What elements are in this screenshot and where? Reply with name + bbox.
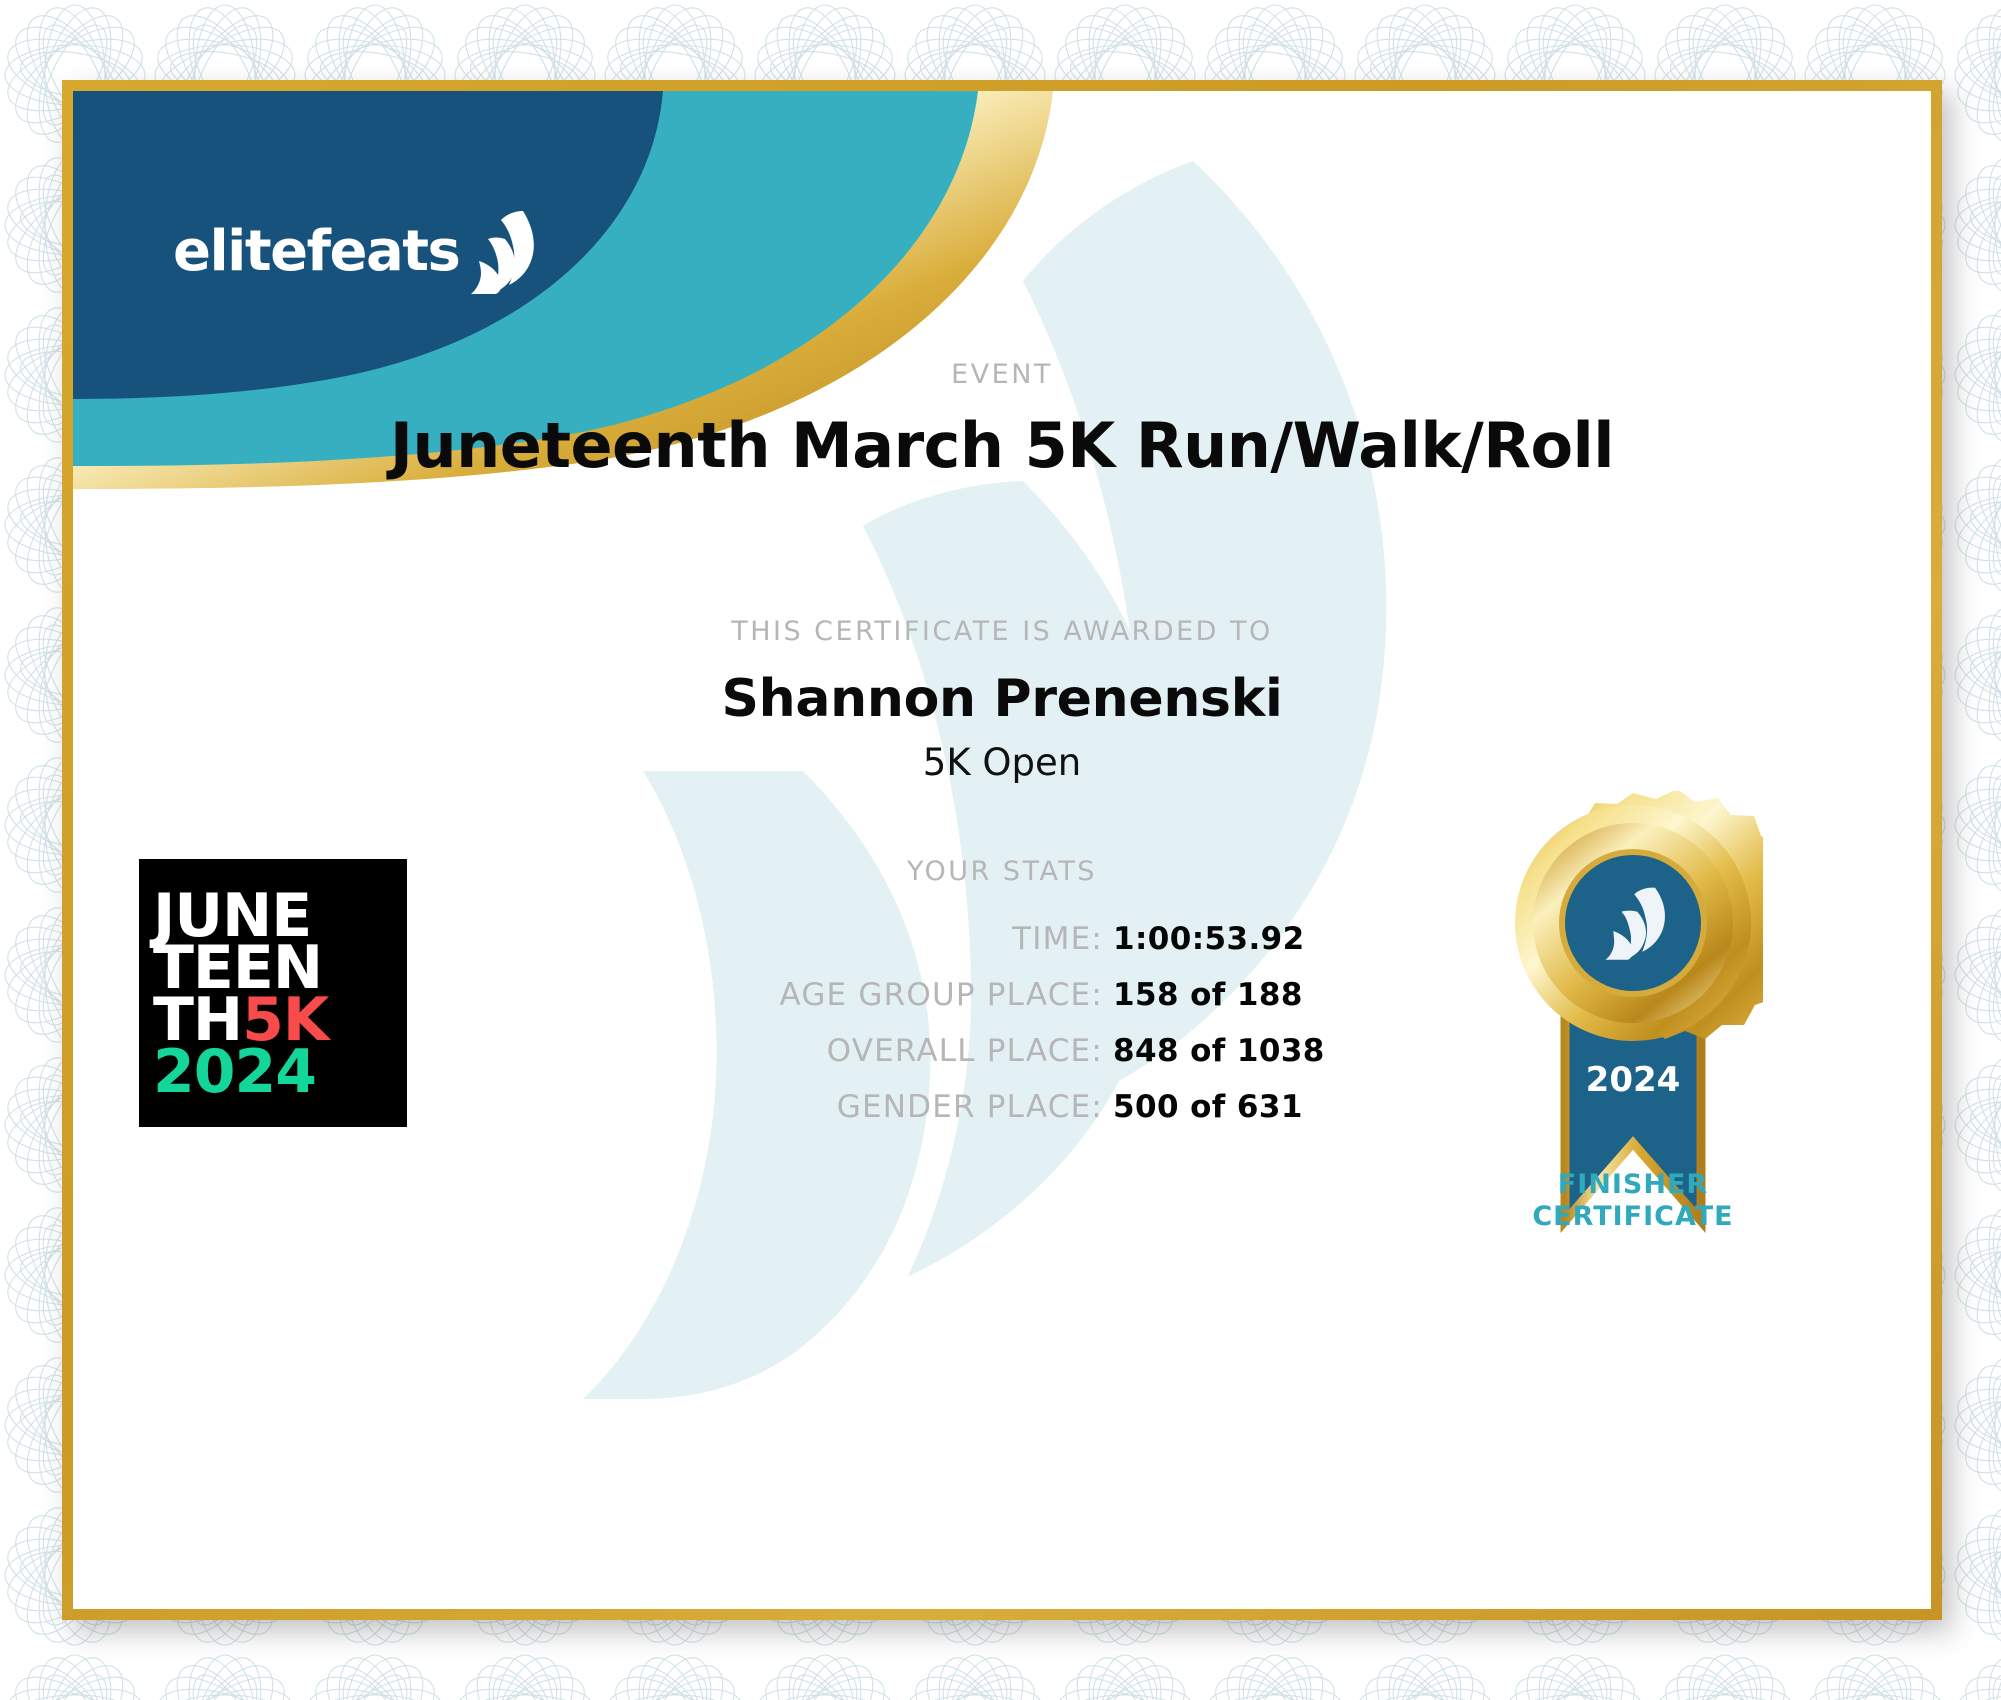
brand-logo: elitefeats <box>173 209 543 295</box>
recipient-name: Shannon Prenenski <box>73 669 1931 729</box>
medal-caption: FINISHER CERTIFICATE <box>1473 1169 1793 1233</box>
medal-caption-line-1: FINISHER <box>1473 1169 1793 1201</box>
juneteenth-race-logo: JUNE TEEN TH 5K 2024 <box>139 859 407 1127</box>
certificate-page: elitefeats EVENT Juneteenth March 5K Run… <box>0 0 2001 1700</box>
certificate-body: elitefeats EVENT Juneteenth March 5K Run… <box>73 91 1931 1609</box>
recipient-division: 5K Open <box>73 741 1931 784</box>
event-title: Juneteenth March 5K Run/Walk/Roll <box>73 409 1931 482</box>
brand-wordmark: elitefeats <box>173 224 459 280</box>
winged-foot-icon <box>465 209 543 295</box>
stat-value: 1:00:53.92 <box>1113 921 1305 957</box>
race-logo-year: 2024 <box>153 1046 395 1098</box>
stat-value: 158 of 188 <box>1113 977 1303 1013</box>
event-label: EVENT <box>73 359 1931 390</box>
awarded-to-label: THIS CERTIFICATE IS AWARDED TO <box>73 616 1931 647</box>
stat-value: 500 of 631 <box>1113 1089 1303 1125</box>
stat-value: 848 of 1038 <box>1113 1033 1325 1069</box>
gold-border-frame: elitefeats EVENT Juneteenth March 5K Run… <box>62 80 1942 1620</box>
medal-caption-line-2: CERTIFICATE <box>1473 1201 1793 1233</box>
medal-year-text: 2024 <box>1586 1060 1681 1100</box>
